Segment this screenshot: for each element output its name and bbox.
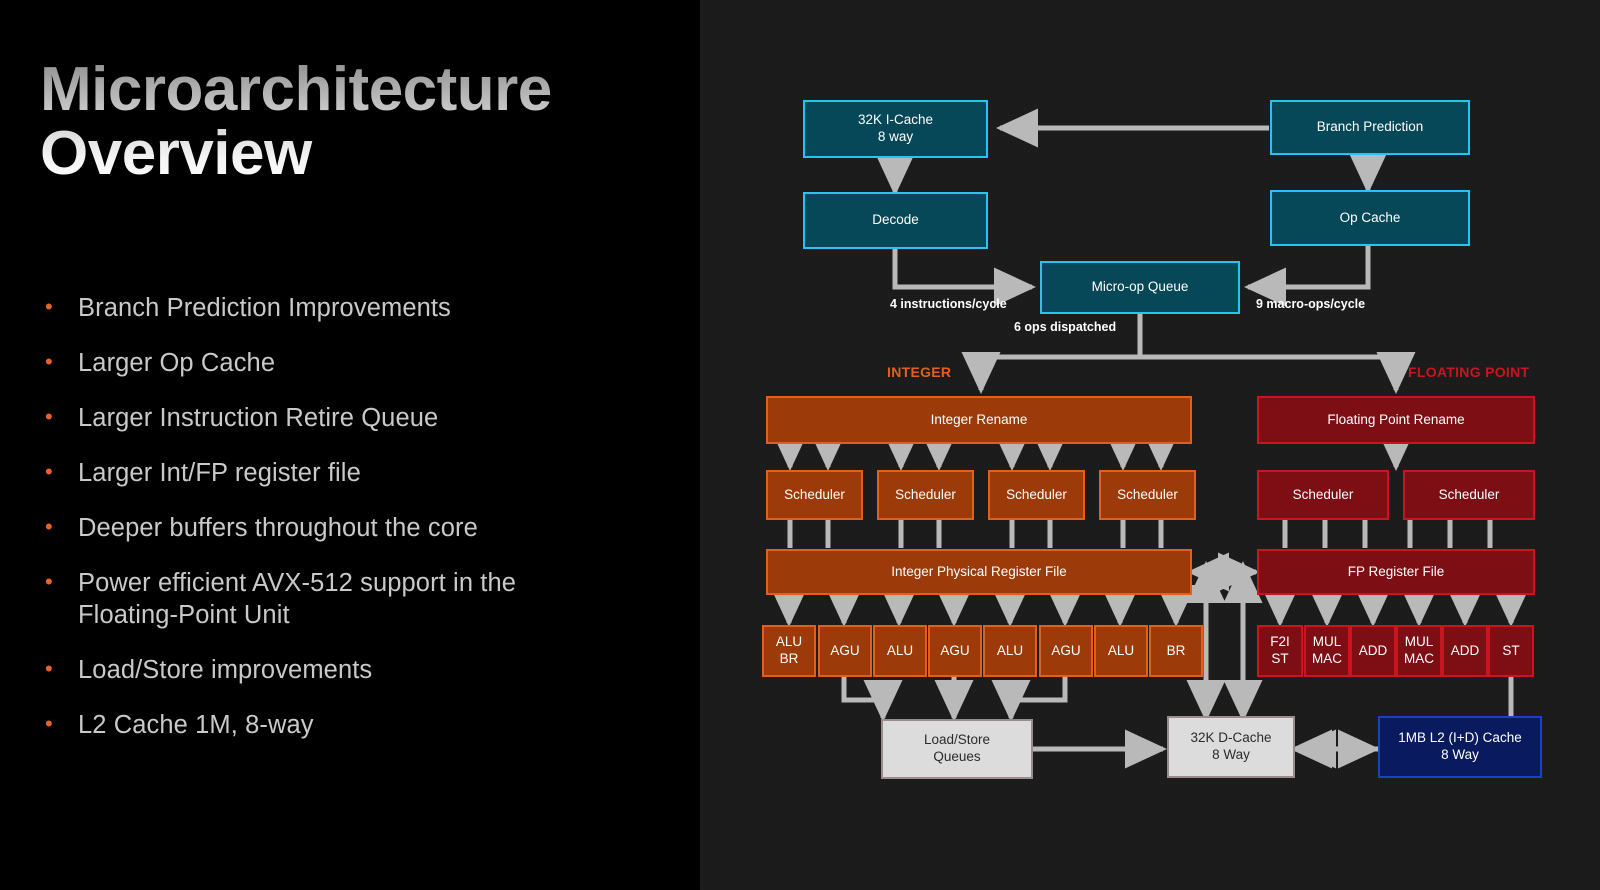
node-fp-unit-add-2[interactable]: ADD <box>1442 625 1488 677</box>
feature-bullet-list: • Branch Prediction Improvements • Large… <box>40 292 680 764</box>
node-load-store-queues[interactable]: Load/Store Queues <box>881 719 1033 779</box>
bullet-text: Larger Op Cache <box>78 347 275 379</box>
bullet-text: Larger Int/FP register file <box>78 457 361 489</box>
list-item: • Deeper buffers throughout the core <box>40 512 680 544</box>
bullet-text: L2 Cache 1M, 8-way <box>78 709 314 741</box>
list-item: • Larger Op Cache <box>40 347 680 379</box>
node-fp-scheduler-2[interactable]: Scheduler <box>1403 470 1535 520</box>
node-fp-unit-add-1[interactable]: ADD <box>1350 625 1396 677</box>
node-integer-scheduler-3[interactable]: Scheduler <box>988 470 1085 520</box>
left-content-panel: Microarchitecture Overview • Branch Pred… <box>0 0 700 890</box>
slide-root: Microarchitecture Overview • Branch Pred… <box>0 0 1600 890</box>
node-integer-rename[interactable]: Integer Rename <box>766 396 1192 444</box>
bullet-marker-icon: • <box>40 347 78 377</box>
node-fp-rename[interactable]: Floating Point Rename <box>1257 396 1535 444</box>
bullet-marker-icon: • <box>40 567 78 597</box>
list-item: • Load/Store improvements <box>40 654 680 686</box>
node-integer-scheduler-4[interactable]: Scheduler <box>1099 470 1196 520</box>
node-op-cache[interactable]: Op Cache <box>1270 190 1470 246</box>
node-micro-op-queue[interactable]: Micro-op Queue <box>1040 261 1240 314</box>
microarchitecture-diagram-panel: 32K I-Cache 8 way Branch Prediction Deco… <box>700 0 1600 890</box>
bullet-text: Deeper buffers throughout the core <box>78 512 478 544</box>
bullet-text: Power efficient AVX-512 support in the F… <box>78 567 516 631</box>
node-decode[interactable]: Decode <box>803 192 988 249</box>
node-fp-unit-mul-mac-1[interactable]: MUL MAC <box>1304 625 1350 677</box>
node-exec-agu-1[interactable]: AGU <box>818 625 872 677</box>
list-item: • Branch Prediction Improvements <box>40 292 680 324</box>
bullet-text: Branch Prediction Improvements <box>78 292 451 324</box>
node-branch-prediction[interactable]: Branch Prediction <box>1270 100 1470 155</box>
node-exec-agu-2[interactable]: AGU <box>928 625 982 677</box>
node-exec-br[interactable]: BR <box>1149 625 1203 677</box>
node-fp-scheduler-1[interactable]: Scheduler <box>1257 470 1389 520</box>
node-d-cache[interactable]: 32K D-Cache 8 Way <box>1167 716 1295 778</box>
bullet-text: Larger Instruction Retire Queue <box>78 402 438 434</box>
node-exec-alu-br[interactable]: ALU BR <box>762 625 816 677</box>
node-l2-cache[interactable]: 1MB L2 (I+D) Cache 8 Way <box>1378 716 1542 778</box>
node-fp-unit-mul-mac-2[interactable]: MUL MAC <box>1396 625 1442 677</box>
node-integer-scheduler-2[interactable]: Scheduler <box>877 470 974 520</box>
page-title: Microarchitecture Overview <box>40 58 660 186</box>
bullet-marker-icon: • <box>40 512 78 542</box>
node-fp-unit-st[interactable]: ST <box>1488 625 1534 677</box>
bullet-marker-icon: • <box>40 457 78 487</box>
list-item: • Larger Int/FP register file <box>40 457 680 489</box>
block-diagram: 32K I-Cache 8 way Branch Prediction Deco… <box>700 0 1600 890</box>
bullet-marker-icon: • <box>40 654 78 684</box>
label-decode-rate: 4 instructions/cycle <box>890 297 1007 311</box>
node-exec-alu-3[interactable]: ALU <box>983 625 1037 677</box>
node-exec-agu-3[interactable]: AGU <box>1039 625 1093 677</box>
node-fp-register-file[interactable]: FP Register File <box>1257 549 1535 595</box>
bullet-text: Load/Store improvements <box>78 654 372 686</box>
node-integer-scheduler-1[interactable]: Scheduler <box>766 470 863 520</box>
list-item: • Power efficient AVX-512 support in the… <box>40 567 680 631</box>
list-item: • L2 Cache 1M, 8-way <box>40 709 680 741</box>
node-integer-register-file[interactable]: Integer Physical Register File <box>766 549 1192 595</box>
bullet-marker-icon: • <box>40 402 78 432</box>
list-item: • Larger Instruction Retire Queue <box>40 402 680 434</box>
label-floating-point-section: FLOATING POINT <box>1408 364 1529 380</box>
label-dispatch-rate: 6 ops dispatched <box>1014 320 1116 334</box>
node-exec-alu-2[interactable]: ALU <box>873 625 927 677</box>
label-integer-section: INTEGER <box>887 364 951 380</box>
node-exec-alu-4[interactable]: ALU <box>1094 625 1148 677</box>
bullet-marker-icon: • <box>40 292 78 322</box>
node-icache[interactable]: 32K I-Cache 8 way <box>803 100 988 158</box>
node-fp-unit-f2i-st[interactable]: F2I ST <box>1257 625 1303 677</box>
bullet-marker-icon: • <box>40 709 78 739</box>
label-opcache-rate: 9 macro-ops/cycle <box>1256 297 1365 311</box>
